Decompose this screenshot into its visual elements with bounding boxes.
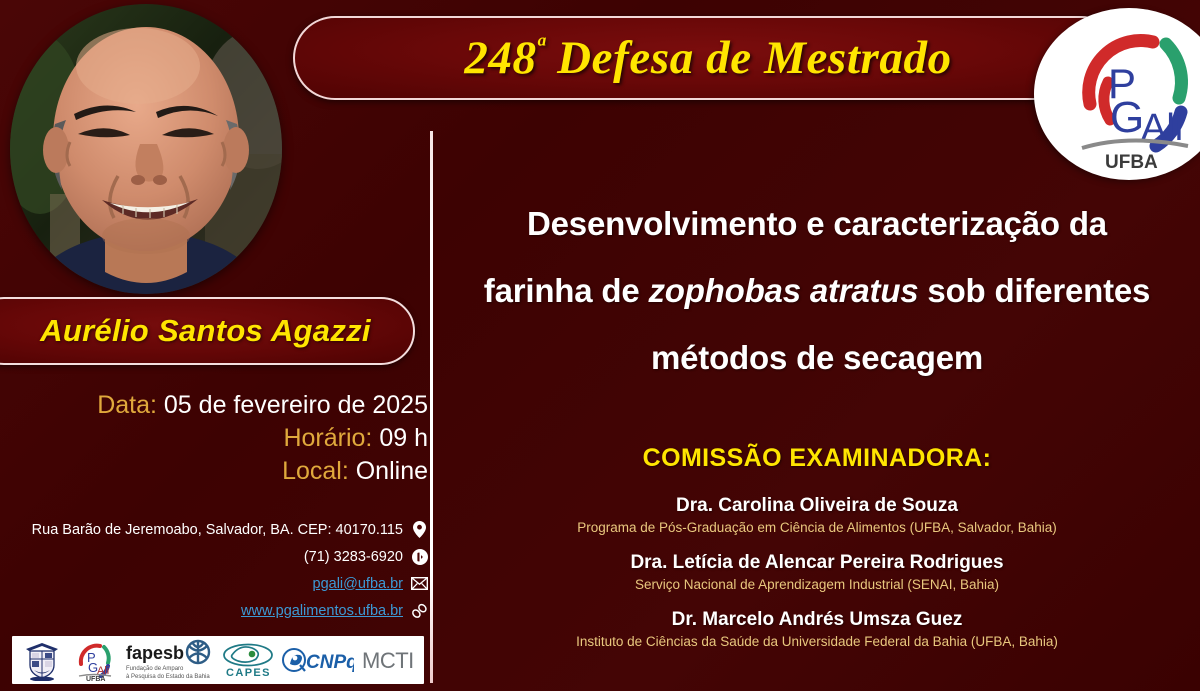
banner-number: 248	[464, 32, 536, 84]
thesis-line2-pre: farinha de	[484, 272, 649, 309]
contact-block: Rua Barão de Jeremoabo, Salvador, BA. CE…	[8, 517, 428, 625]
svg-text:fapesb: fapesb	[126, 643, 184, 663]
committee-member-name: Dra. Letícia de Alencar Pereira Rodrigue…	[446, 551, 1188, 575]
event-details: Data: 05 de fevereiro de 2025 Horário: 0…	[30, 389, 428, 488]
contact-address-row: Rua Barão de Jeremoabo, Salvador, BA. CE…	[8, 517, 428, 542]
committee-heading: COMISSÃO EXAMINADORA:	[446, 444, 1188, 473]
contact-website-row[interactable]: www.pgalimentos.ufba.br	[8, 598, 428, 623]
banner-pill: 248ª Defesa de Mestrado	[293, 16, 1123, 100]
pgali-logo-mark: P G Ali UFBA	[1048, 16, 1200, 171]
thesis-title: Desenvolvimento e caracterização da fari…	[446, 190, 1188, 391]
fapesb-logo: fapesb Fundação de Amparo à Pesquisa do …	[126, 639, 214, 681]
committee-member-name: Dr. Marcelo Andrés Umsza Guez	[446, 608, 1188, 632]
svg-text:UFBA: UFBA	[86, 676, 105, 681]
banner-title-text: 248ª Defesa de Mestrado	[464, 31, 951, 85]
location-pin-icon	[411, 521, 428, 538]
event-date-label: Data:	[97, 391, 157, 419]
phone-icon	[411, 548, 428, 565]
thesis-title-line-3: métodos de secagem	[446, 324, 1188, 391]
pgali-ufba-logo: P G Ali UFBA	[1034, 8, 1200, 180]
svg-text:MCTI: MCTI	[362, 648, 414, 673]
ufba-crest-logo	[22, 639, 62, 681]
committee-member-name: Dra. Carolina Oliveira de Souza	[446, 494, 1188, 518]
link-icon	[411, 602, 428, 619]
svg-text:CAPES: CAPES	[226, 667, 271, 679]
event-time-label: Horário:	[283, 424, 372, 452]
committee-member-affiliation: Programa de Pós-Graduação em Ciência de …	[446, 518, 1188, 538]
event-place-value: Online	[356, 457, 428, 485]
svg-text:CNPq: CNPq	[306, 652, 354, 673]
event-date-row: Data: 05 de fevereiro de 2025	[30, 389, 428, 422]
contact-email-row[interactable]: pgali@ufba.br	[8, 571, 428, 596]
thesis-line2-post: sob diferentes	[918, 272, 1150, 309]
event-title-banner: 248ª Defesa de Mestrado	[293, 16, 1123, 100]
event-date-value: 05 de fevereiro de 2025	[164, 391, 428, 419]
contact-website[interactable]: www.pgalimentos.ufba.br	[241, 603, 403, 619]
contact-phone-row: (71) 3283-6920	[8, 544, 428, 569]
committee-member: Dr. Marcelo Andrés Umsza Guez Instituto …	[446, 608, 1188, 652]
banner-title-label: Defesa de Mestrado	[557, 32, 952, 84]
capes-logo: CAPES	[222, 640, 274, 680]
defense-poster: 248ª Defesa de Mestrado P G Ali UFBA Aur…	[0, 0, 1200, 691]
envelope-icon	[411, 575, 428, 592]
svg-text:à Pesquisa do Estado da Bahia: à Pesquisa do Estado da Bahia	[126, 674, 210, 680]
thesis-species-name: zophobas atratus	[648, 272, 918, 309]
contact-phone: (71) 3283-6920	[304, 549, 403, 565]
candidate-name-banner: Aurélio Santos Agazzi	[0, 297, 415, 365]
thesis-title-line-2: farinha de zophobas atratus sob diferent…	[446, 257, 1188, 324]
candidate-name: Aurélio Santos Agazzi	[14, 313, 371, 349]
logo-g-text: G	[1110, 93, 1144, 142]
contact-address: Rua Barão de Jeremoabo, Salvador, BA. CE…	[32, 522, 403, 538]
committee-member-affiliation: Serviço Nacional de Aprendizagem Industr…	[446, 575, 1188, 595]
event-time-value: 09 h	[379, 424, 428, 452]
portrait-illustration	[10, 4, 282, 294]
committee-member: Dra. Carolina Oliveira de Souza Programa…	[446, 494, 1188, 538]
event-place-row: Local: Online	[30, 455, 428, 488]
committee-member: Dra. Letícia de Alencar Pereira Rodrigue…	[446, 551, 1188, 595]
contact-email[interactable]: pgali@ufba.br	[313, 576, 404, 592]
mcti-logo: MCTI	[362, 646, 414, 674]
event-time-row: Horário: 09 h	[30, 422, 428, 455]
cnpq-logo: CNPq	[282, 645, 354, 675]
banner-ordinal: ª	[537, 32, 545, 63]
logo-ufba-text: UFBA	[1105, 152, 1158, 171]
pgali-ufba-footer-logo: P G Ali UFBA	[70, 639, 118, 681]
svg-text:Fundação de Amparo: Fundação de Amparo	[126, 666, 184, 672]
examining-committee: COMISSÃO EXAMINADORA: Dra. Carolina Oliv…	[446, 444, 1188, 665]
sponsor-logos-strip: P G Ali UFBA fapesb Fundação de Amparo à…	[12, 636, 424, 684]
candidate-photo	[10, 4, 282, 294]
thesis-title-line-1: Desenvolvimento e caracterização da	[446, 190, 1188, 257]
vertical-divider	[430, 131, 433, 683]
event-place-label: Local:	[282, 457, 349, 485]
committee-member-affiliation: Instituto de Ciências da Saúde da Univer…	[446, 632, 1188, 652]
